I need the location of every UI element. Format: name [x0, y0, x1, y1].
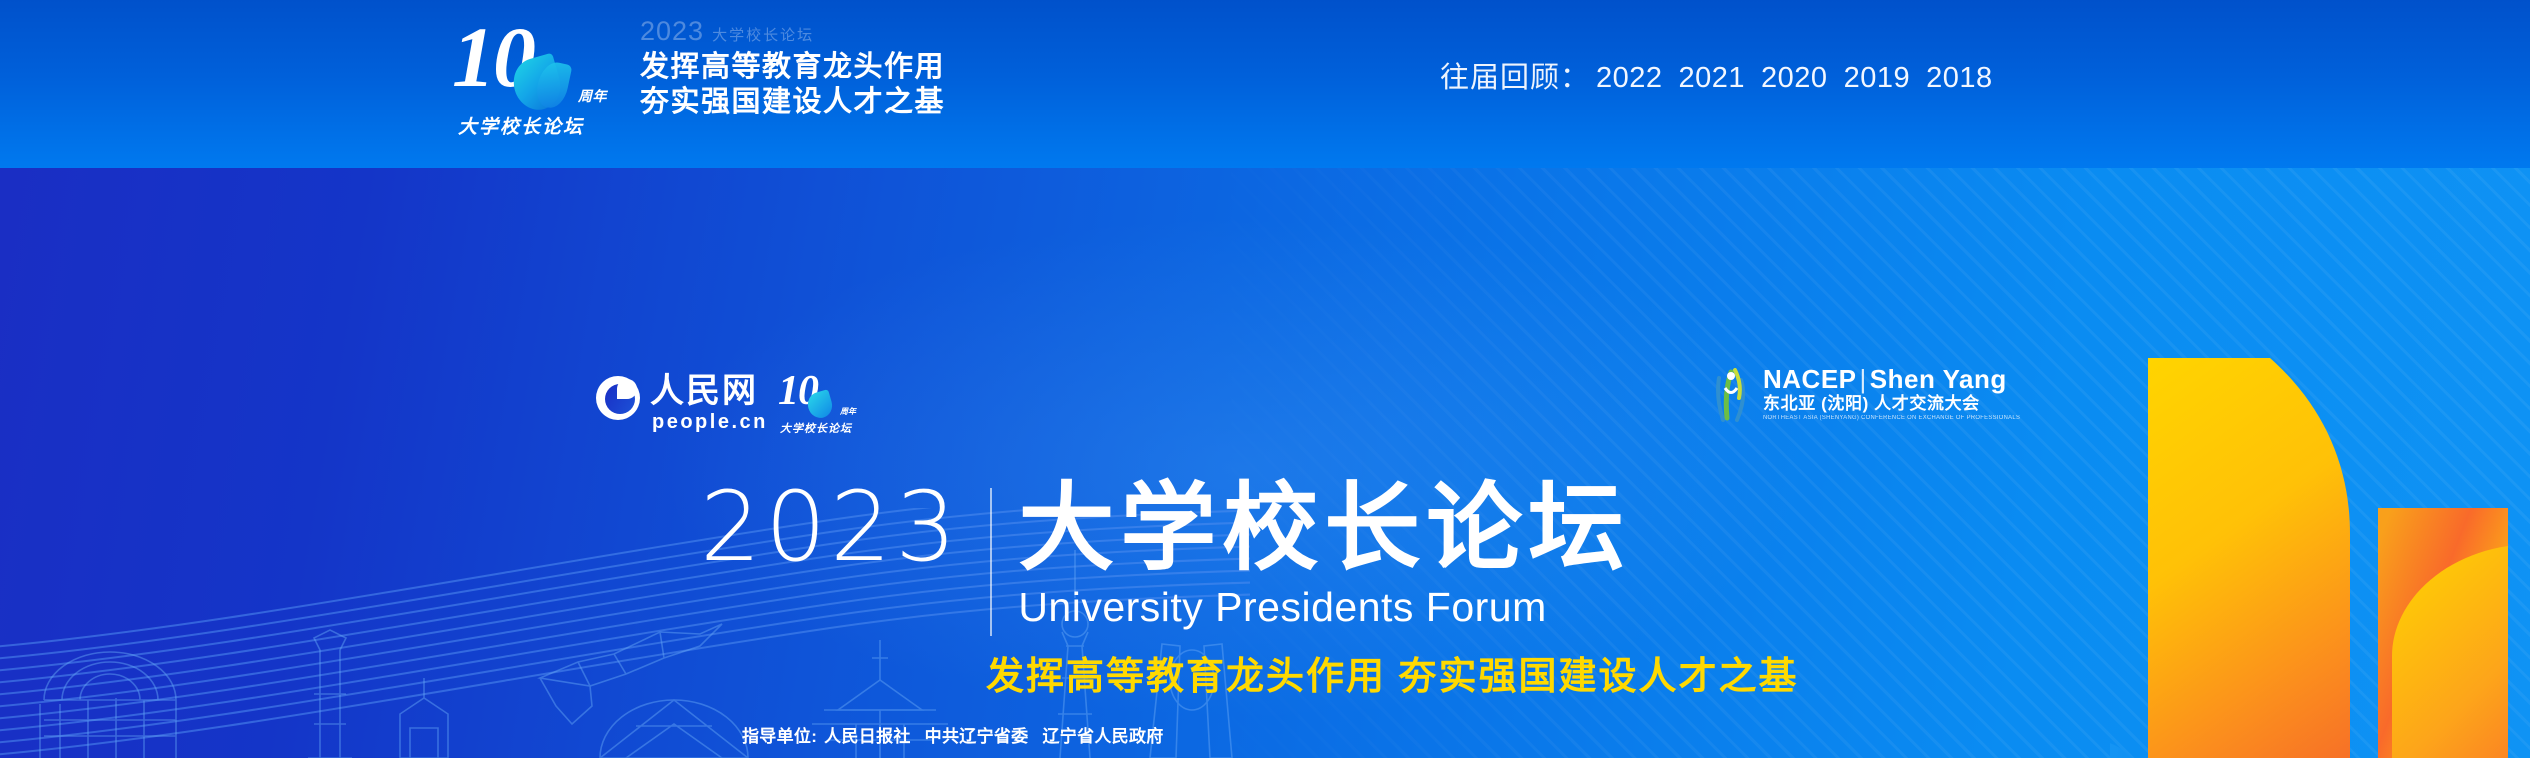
ghost-year: 2023 [640, 16, 704, 46]
credit-value: 人民日报社 [824, 727, 911, 746]
petal-decoration [2110, 308, 2530, 758]
nacep-text-block: NACEP|Shen Yang 东北亚 (沈阳) 人才交流大会 NORTHEAS… [1763, 366, 2028, 422]
top-headline-block: 2023大学校长论坛 发挥高等教育龙头作用 夯实强国建设人才之基 [640, 18, 945, 121]
title-divider [990, 488, 992, 636]
people-cn-mark-icon [596, 376, 640, 420]
credit-value: 辽宁省人民政府 [1042, 727, 1163, 746]
event-year: 2023 [700, 480, 960, 574]
people-cn-name-en: people.cn [652, 412, 768, 432]
nav-year-2018[interactable]: 2018 [1926, 62, 1993, 94]
nacep-city: Shen Yang [1870, 364, 2007, 394]
top-band: 10 周年 大学校长论坛 2023大学校长论坛 发挥高等教育龙头作用 夯实强国建… [0, 0, 2530, 168]
nacep-name-en: NORTHEAST ASIA (SHENYANG) CONFERENCE ON … [1763, 415, 2020, 423]
anniversary-label: 周年 [840, 406, 856, 417]
ghost-title: 2023大学校长论坛 [640, 18, 945, 45]
past-editions-label: 往届回顾： [1440, 62, 1590, 94]
title-text-block: 大学校长论坛 University Presidents Forum [1018, 480, 1630, 631]
event-slogan: 发挥高等教育龙头作用 夯实强国建设人才之基 [986, 645, 1799, 700]
headline-line-2: 夯实强国建设人才之基 [640, 85, 945, 120]
banner-page: 10 周年 大学校长论坛 2023大学校长论坛 发挥高等教育龙头作用 夯实强国建… [0, 0, 2530, 758]
nav-year-2020[interactable]: 2020 [1761, 62, 1828, 94]
event-title-cn: 大学校长论坛 [1018, 480, 1630, 578]
banner-anniversary-logo: 10 周年 大学校长论坛 [778, 370, 862, 434]
nacep-logo[interactable]: NACEP|Shen Yang 东北亚 (沈阳) 人才交流大会 NORTHEAS… [1705, 366, 1945, 430]
credits-block: 指导单位:人民日报社中共辽宁省委辽宁省人民政府 学术支持:中国高等教育学会 主办… [742, 728, 1811, 758]
nav-year-2019[interactable]: 2019 [1844, 62, 1911, 94]
nacep-figure-icon [1705, 368, 1757, 424]
nacep-separator: | [1860, 364, 1867, 394]
past-editions-nav: 往届回顾：20222021202020192018 [1440, 54, 1993, 96]
nacep-name-cn: 东北亚 (沈阳) 人才交流大会 [1763, 393, 2028, 414]
anniversary-forum-name: 大学校长论坛 [780, 420, 852, 436]
ghost-forum: 大学校长论坛 [712, 27, 814, 44]
nacep-acronym: NACEP [1763, 364, 1857, 394]
people-cn-name-cn: 人民网 [650, 374, 758, 408]
credit-value: 中共辽宁省委 [925, 727, 1029, 746]
nav-year-2021[interactable]: 2021 [1679, 62, 1746, 94]
headline-line-1: 发挥高等教育龙头作用 [640, 50, 945, 85]
anniversary-label: 周年 [578, 86, 607, 106]
people-cn-logo[interactable]: 人民网 people.cn [596, 374, 796, 436]
credit-key: 指导单位: [742, 727, 817, 746]
anniversary-forum-name: 大学校长论坛 [458, 112, 584, 139]
event-title: 2023 大学校长论坛 University Presidents Forum [700, 480, 1630, 636]
main-banner: 人民网 people.cn 10 周年 大学校长论坛 NACEP|Shen Ya… [0, 168, 2530, 758]
credit-line-guidance: 指导单位:人民日报社中共辽宁省委辽宁省人民政府 [742, 728, 1811, 745]
event-title-en: University Presidents Forum [1018, 584, 1630, 631]
top-anniversary-logo: 10 周年 大学校长论坛 [452, 12, 642, 140]
nacep-title: NACEP|Shen Yang [1763, 366, 2028, 393]
nav-year-2022[interactable]: 2022 [1596, 62, 1663, 94]
